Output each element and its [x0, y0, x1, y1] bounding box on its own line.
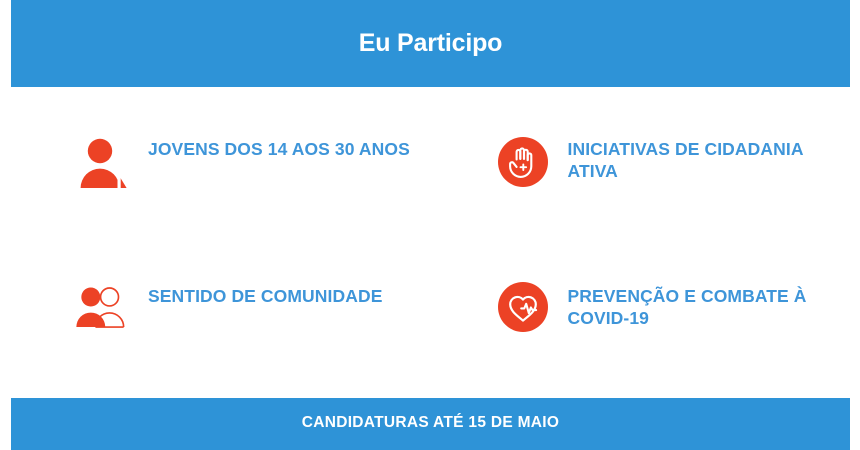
header-banner: Eu Participo	[11, 0, 850, 87]
poster-root: Eu Participo JOVENS DOS 14 AOS 30 ANOS	[0, 0, 860, 450]
features-grid: JOVENS DOS 14 AOS 30 ANOS	[11, 87, 850, 398]
feature-label: PREVENÇÃO E COMBATE À COVID-19	[568, 285, 838, 330]
feature-item-iniciativas: INICIATIVAS DE CIDADANIA ATIVA	[431, 87, 851, 243]
deadline-text: CANDIDATURAS ATÉ 15 DE MAIO	[302, 414, 560, 432]
footer-banner: CANDIDATURAS ATÉ 15 DE MAIO	[11, 398, 850, 450]
feature-item-comunidade: SENTIDO DE COMUNIDADE	[11, 243, 431, 399]
raised-hand-plus-circle-icon	[496, 135, 550, 189]
two-people-icon	[76, 280, 130, 334]
person-icon	[76, 135, 130, 189]
feature-label: SENTIDO DE COMUNIDADE	[148, 285, 382, 307]
feature-item-jovens: JOVENS DOS 14 AOS 30 ANOS	[11, 87, 431, 243]
heart-pulse-circle-icon	[496, 280, 550, 334]
feature-label: JOVENS DOS 14 AOS 30 ANOS	[148, 138, 410, 160]
page-title: Eu Participo	[359, 31, 502, 56]
feature-item-covid: PREVENÇÃO E COMBATE À COVID-19	[431, 243, 851, 399]
feature-label: INICIATIVAS DE CIDADANIA ATIVA	[568, 138, 838, 183]
